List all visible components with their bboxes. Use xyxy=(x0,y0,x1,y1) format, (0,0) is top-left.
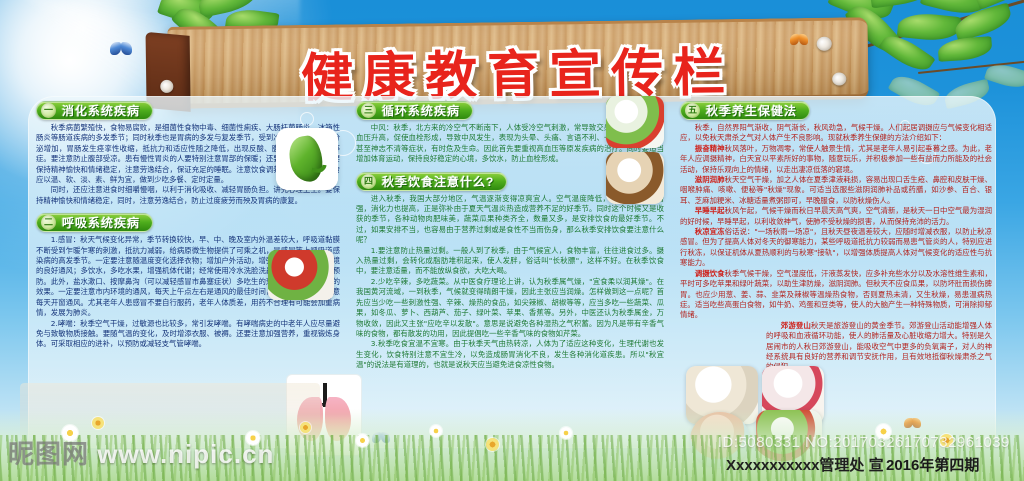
section-header-digestive: 一 消化系统疾病 xyxy=(36,101,153,120)
watermark-site: 昵图网 www.nipic.cn xyxy=(8,434,274,471)
item-title: 振奋精神 xyxy=(695,144,725,153)
item-paragraph: 郊游登山秋天是旅游登山的黄金季节。郊游登山活动能增强人体的呼吸和血液循环功能，使… xyxy=(680,321,992,373)
item-paragraph: 滋阴润肺秋天空气干燥，加之人体在夏季津液耗损，容易出现口舌生疮、鼻腔和皮肤干燥、… xyxy=(680,175,992,206)
section-header-autumn-health: 五 秋季养生保健法 xyxy=(680,101,810,120)
butterfly-orange-icon xyxy=(790,34,808,47)
item-title: 滋阴润肺 xyxy=(695,175,725,184)
branch-icon xyxy=(862,0,1024,49)
item-text: 秋季气候干燥，空气湿度低，汗液蒸发快，应多补充些水分以及水溶性维生素和，平时可多… xyxy=(680,269,992,320)
daisy-flower-icon xyxy=(560,427,572,439)
leaf-icon xyxy=(952,2,1014,41)
section-title: 循环系统疾病 xyxy=(382,102,460,119)
item-paragraph: 秋凉宜冻俗话说："一场秋雨一场凉"，且秋天昼夜温差较大，应随时增减衣服，以防止秋… xyxy=(680,227,992,269)
item-text: 秋风落叶，万物凋零，常使人触景生情，尤其是老年人易引起垂暮之感。为此，老年人应调… xyxy=(680,144,992,174)
watermark-id: ID:5080331 NO:20170326170732961039 xyxy=(718,434,1010,451)
section-title: 秋季养生保健法 xyxy=(706,102,797,119)
leaf-icon xyxy=(972,0,1024,10)
paragraph: 1.要注意防止热量过剩。一般人到了秋季，由于气候宜人，食物丰富，往往进食过多。摄… xyxy=(356,246,664,277)
daisy-flower-icon xyxy=(300,422,311,433)
item-title: 调摄饮食 xyxy=(695,269,725,278)
butterfly-icon xyxy=(110,42,132,58)
salad-photo xyxy=(606,96,664,148)
leaf-icon xyxy=(984,60,1024,93)
section-title: 呼吸系统疾病 xyxy=(62,214,140,231)
item-text: 秋风乍起，气候干燥而秋日早晨天高气爽，空气清新，是秋天一日中空气最为湿润的好时候… xyxy=(680,206,992,225)
section-header-respiratory: 二 呼吸系统疾病 xyxy=(36,213,153,232)
health-education-poster: 健康教育宣传栏 一 消化系统疾病 秋季病菌繁殖快，食物易腐败，是细菌性食物中毒、… xyxy=(0,0,1024,481)
section-header-autumn-diet: 四 秋季饮食注意什么? xyxy=(356,172,507,191)
leaf-icon xyxy=(196,0,260,18)
branch-icon xyxy=(918,59,1024,74)
section-number-badge: 三 xyxy=(361,103,376,118)
paragraph: 3.秋季吃食宜温不宜寒。由于秋季天气由热转凉，人体为了适应这种变化，生理代谢也发… xyxy=(356,339,664,370)
item-title: 秋凉宜冻 xyxy=(695,227,725,236)
daisy-flower-icon xyxy=(356,434,369,447)
coffee-photo xyxy=(606,152,664,204)
item-title: 早睡早起 xyxy=(695,206,725,215)
leaf-icon xyxy=(878,29,935,77)
section-number-badge: 一 xyxy=(41,103,56,118)
daisy-flower-icon xyxy=(92,417,104,429)
watermark-site-url: www.nipic.cn xyxy=(97,439,274,469)
item-paragraph: 早睡早起秋风乍起，气候干燥而秋日早晨天高气爽，空气清新，是秋天一日中空气最为湿润… xyxy=(680,206,992,227)
leaf-icon xyxy=(869,0,938,8)
section-number-badge: 五 xyxy=(685,103,700,118)
section-number-badge: 二 xyxy=(41,215,56,230)
section-title: 消化系统疾病 xyxy=(62,102,140,119)
footer: 昵图网 www.nipic.cn Xxxxxxxxxxx管理处 宣 2016年第… xyxy=(0,449,1024,479)
daisy-flower-icon xyxy=(430,425,442,437)
item-paragraph: 振奋精神秋风落叶，万物凋零，常使人触景生情，尤其是老年人易引起垂暮之感。为此，老… xyxy=(680,144,992,175)
stomach-illustration xyxy=(276,128,338,190)
column-circulatory-diet: 三 循环系统疾病 中风：秋季，北方来的冷空气不断南下，人体受冷空气刺激，常导致交… xyxy=(356,100,664,448)
leaf-icon xyxy=(937,36,992,62)
item-title: 郊游登山 xyxy=(781,321,811,330)
watermark-site-cn: 昵图网 xyxy=(8,439,89,469)
section-number-badge: 四 xyxy=(361,174,376,189)
footer-organization: Xxxxxxxxxxx管理处 宣 xyxy=(726,454,884,475)
leaf-icon xyxy=(897,11,961,43)
paragraph: 2.哮喘：秋季空气干燥，过敏源也比较多，常引发哮喘。有哮喘病史的中老年人应尽量避… xyxy=(36,319,340,350)
leaf-icon xyxy=(920,0,988,19)
footer-issue: 2016年第四期 xyxy=(886,454,979,475)
item-text: 俗话说："一场秋雨一场凉"，且秋天昼夜温差较大，应随时增减衣服，以防止秋凉感冒。… xyxy=(680,227,992,267)
tomato-food-photo xyxy=(268,250,334,300)
item-paragraph: 调摄饮食秋季气候干燥，空气湿度低，汗液蒸发快，应多补充些水分以及水溶性维生素和，… xyxy=(680,269,992,321)
section-header-circulatory: 三 循环系统疾病 xyxy=(356,101,473,120)
paragraph: 2.少吃辛辣，多吃蔬菜。从中医食疗理论上讲，认为秋季属气燥，"宜食柔以润其燥"。… xyxy=(356,277,664,339)
item-text: 秋天空气干燥，加之人体在夏季津液耗损，容易出现口舌生疮、鼻腔和皮肤干燥、咽喉肿痛… xyxy=(680,175,992,205)
paragraph: 秋季，自然界阳气渐收，阴气渐长，秋风劲急，气候干燥。人们起居调摄应与气候变化相适… xyxy=(680,123,992,144)
section-title: 秋季饮食注意什么? xyxy=(382,173,494,190)
